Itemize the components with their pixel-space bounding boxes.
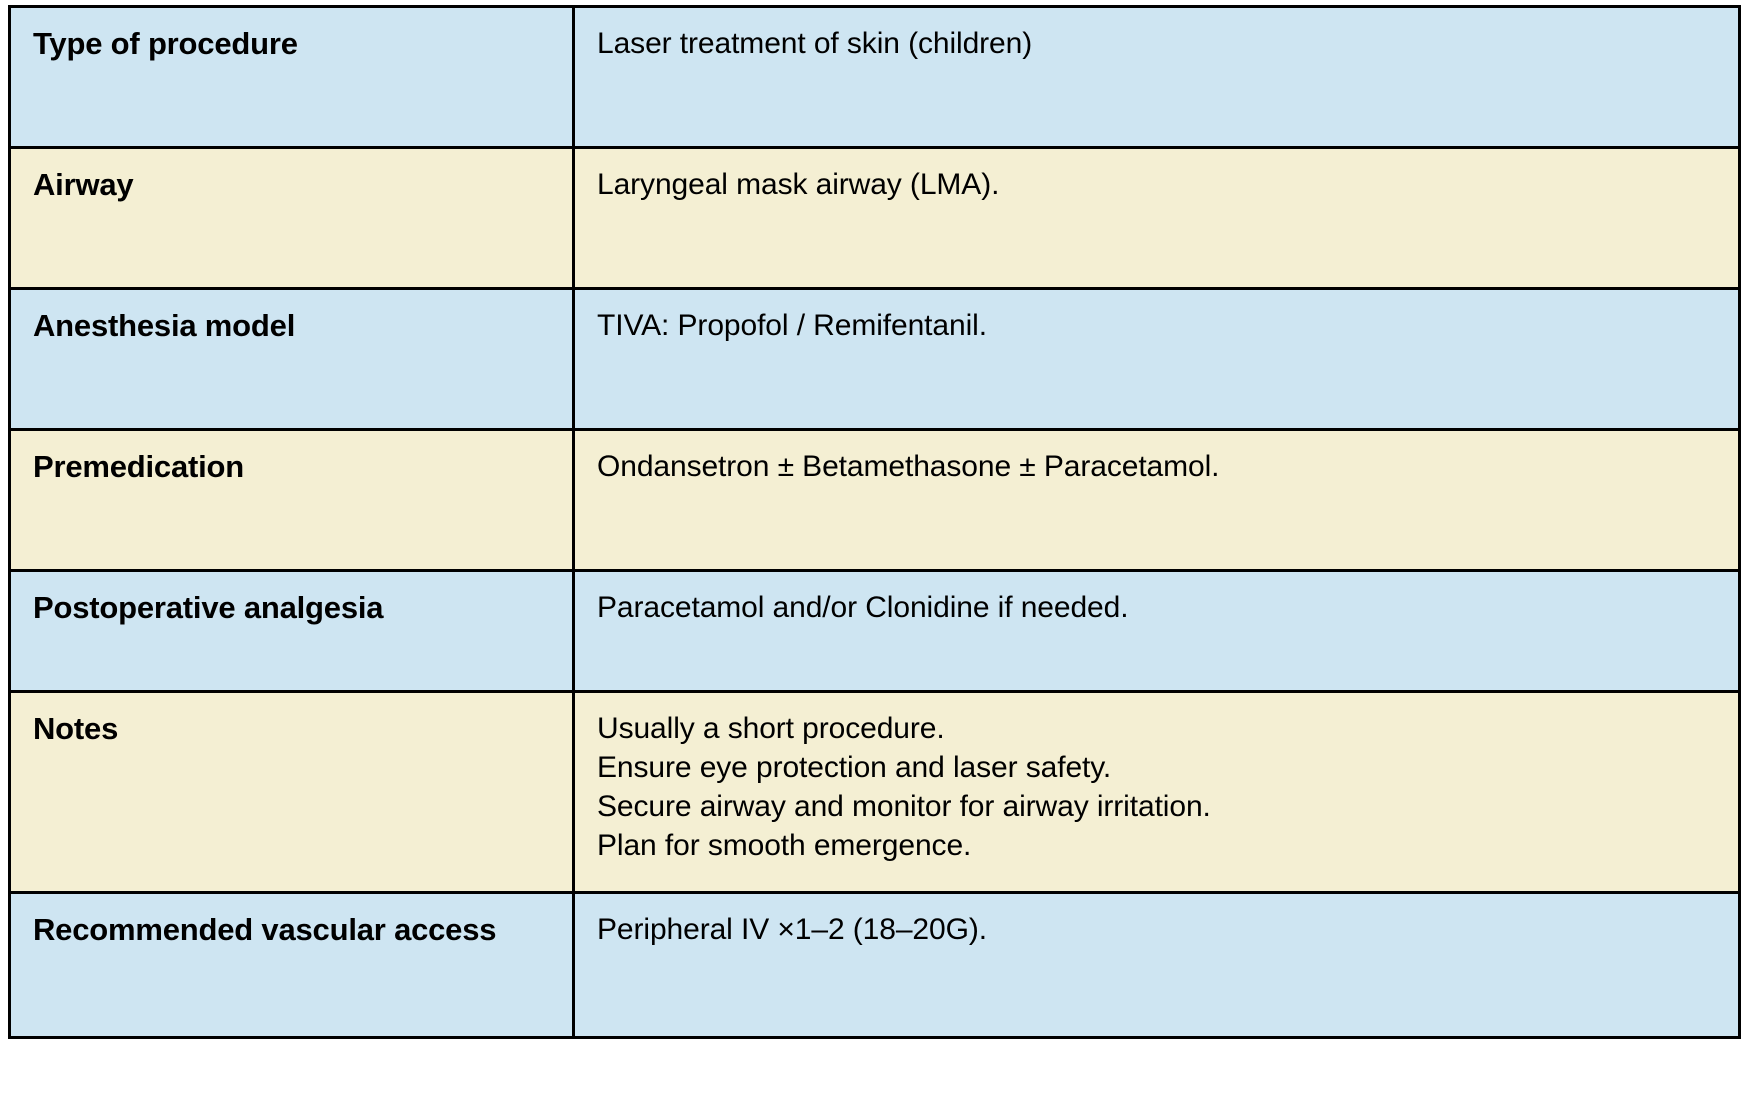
table-row: Anesthesia modelTIVA: Propofol / Remifen…: [10, 289, 1740, 430]
procedure-summary-table: Type of procedureLaser treatment of skin…: [8, 5, 1741, 1039]
row-value-line: TIVA: Propofol / Remifentanil.: [597, 306, 1718, 345]
row-value-cell: Ondansetron ± Betamethasone ± Paracetamo…: [574, 430, 1740, 571]
table-row: PremedicationOndansetron ± Betamethasone…: [10, 430, 1740, 571]
row-label-cell: Premedication: [10, 430, 574, 571]
row-label-text: Airway: [33, 165, 552, 205]
row-label-text: Premedication: [33, 447, 552, 487]
row-value-cell: Paracetamol and/or Clonidine if needed.: [574, 571, 1740, 692]
row-label-text: Type of procedure: [33, 24, 552, 64]
table-row: NotesUsually a short procedure.Ensure ey…: [10, 692, 1740, 893]
page-canvas: Type of procedureLaser treatment of skin…: [0, 0, 1748, 1097]
row-value-line: Secure airway and monitor for airway irr…: [597, 787, 1718, 826]
row-value-line: Plan for smooth emergence.: [597, 826, 1718, 865]
row-label-cell: Type of procedure: [10, 7, 574, 148]
row-label-cell: Postoperative analgesia: [10, 571, 574, 692]
row-label-text: Anesthesia model: [33, 306, 552, 346]
row-label-cell: Notes: [10, 692, 574, 893]
row-value-line: Ondansetron ± Betamethasone ± Paracetamo…: [597, 447, 1718, 486]
table-row: Type of procedureLaser treatment of skin…: [10, 7, 1740, 148]
row-label-text: Postoperative analgesia: [33, 588, 552, 628]
row-label-cell: Recommended vascular access: [10, 893, 574, 1038]
table-row: Recommended vascular accessPeripheral IV…: [10, 893, 1740, 1038]
row-value-line: Ensure eye protection and laser safety.: [597, 748, 1718, 787]
row-value-cell: Peripheral IV ×1–2 (18–20G).: [574, 893, 1740, 1038]
row-value-cell: Laser treatment of skin (children): [574, 7, 1740, 148]
row-value-cell: TIVA: Propofol / Remifentanil.: [574, 289, 1740, 430]
table-body: Type of procedureLaser treatment of skin…: [10, 7, 1740, 1038]
row-value-line: Laser treatment of skin (children): [597, 24, 1718, 63]
row-label-text: Recommended vascular access: [33, 910, 552, 950]
row-label-cell: Airway: [10, 148, 574, 289]
row-value-line: Usually a short procedure.: [597, 709, 1718, 748]
row-value-line: Peripheral IV ×1–2 (18–20G).: [597, 910, 1718, 949]
row-value-cell: Laryngeal mask airway (LMA).: [574, 148, 1740, 289]
row-label-cell: Anesthesia model: [10, 289, 574, 430]
table-row: AirwayLaryngeal mask airway (LMA).: [10, 148, 1740, 289]
row-value-line: Paracetamol and/or Clonidine if needed.: [597, 588, 1718, 627]
row-value-cell: Usually a short procedure.Ensure eye pro…: [574, 692, 1740, 893]
row-value-line: Laryngeal mask airway (LMA).: [597, 165, 1718, 204]
row-label-text: Notes: [33, 709, 552, 749]
table-row: Postoperative analgesiaParacetamol and/o…: [10, 571, 1740, 692]
